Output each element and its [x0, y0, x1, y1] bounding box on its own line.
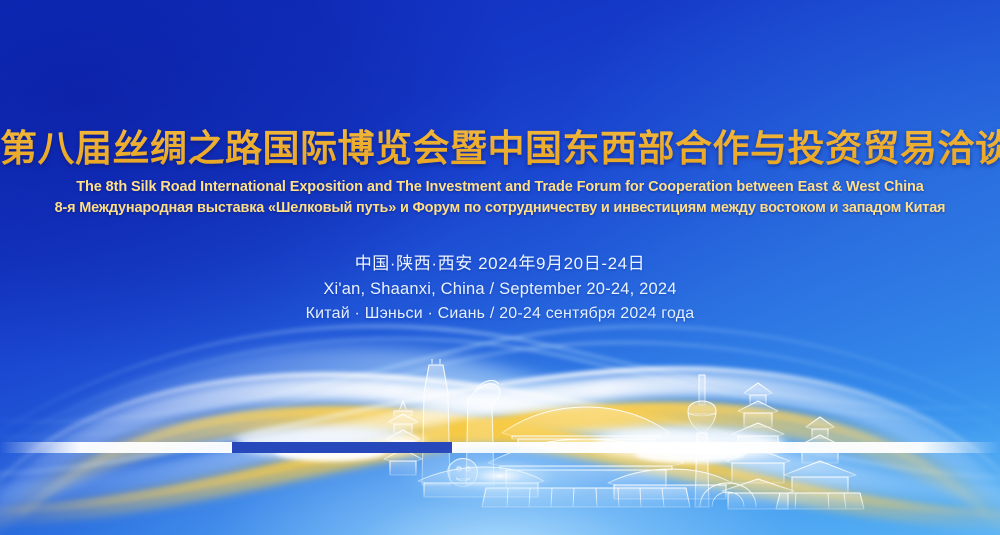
- white-horizon-band: [0, 442, 1000, 453]
- event-location-date-en: Xi'an, Shaanxi, China / September 20-24,…: [0, 280, 1000, 299]
- reflection-base: [300, 511, 720, 517]
- headline-block: 第八届丝绸之路国际博览会暨中国东西部合作与投资贸易洽谈会 The 8th Sil…: [0, 0, 1000, 323]
- xian-skyline-lineart: [0, 335, 1000, 535]
- event-info-block: 中国·陕西·西安 2024年9月20日-24日 Xi'an, Shaanxi, …: [0, 249, 1000, 323]
- center-band-accent: [232, 442, 452, 453]
- event-location-date-cn: 中国·陕西·西安 2024年9月20日-24日: [0, 249, 1000, 274]
- stone-lion-ornament: [448, 459, 477, 487]
- bell-tower-right: [776, 409, 864, 509]
- event-location-date-ru: Китай · Шэньси · Сиань / 20-24 сентября …: [0, 305, 1000, 323]
- small-pagoda-left: [384, 401, 422, 475]
- exposition-poster: 第八届丝绸之路国际博览会暨中国东西部合作与投资贸易洽谈会 The 8th Sil…: [0, 0, 1000, 535]
- page-title-ru: 8-я Международная выставка «Шелковый пут…: [0, 200, 1000, 216]
- page-title-en: The 8th Silk Road International Expositi…: [0, 179, 1000, 195]
- twin-tower-skyscraper: [422, 359, 450, 485]
- big-wild-goose-pagoda: [722, 369, 794, 509]
- page-title-cn: 第八届丝绸之路国际博览会暨中国东西部合作与投资贸易洽谈会: [0, 0, 1000, 170]
